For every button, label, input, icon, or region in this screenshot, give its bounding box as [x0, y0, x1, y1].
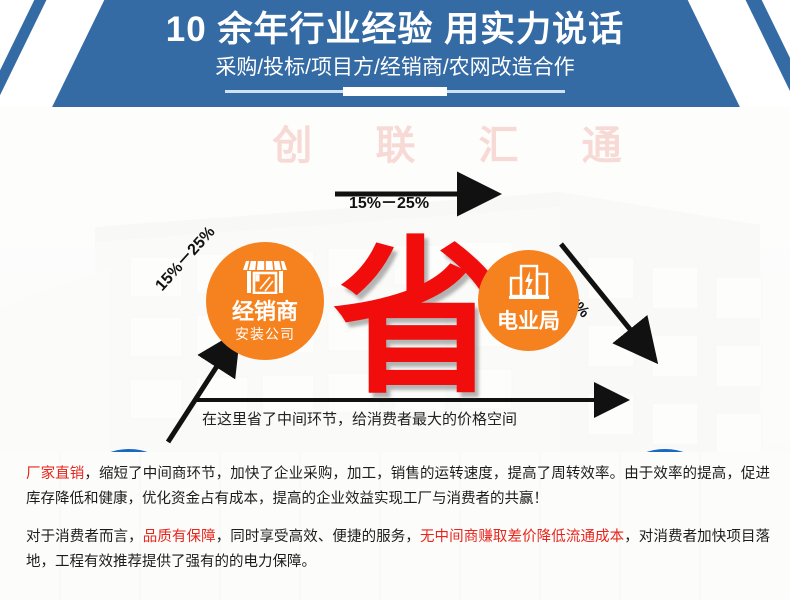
header-subtitle: 采购/投标/项目方/经销商/农网改造合作: [0, 55, 790, 81]
paragraph1-body: ，缩短了中间商环节，加快了企业采购，加工，销售的运转速度，提高了周转效率。由于效…: [26, 466, 770, 507]
paragraph-manufacturer-direct: 厂家直销，缩短了中间商环节，加快了企业采购，加工，销售的运转速度，提高了周转效率…: [26, 462, 770, 512]
node-dealer-label: 经销商: [206, 294, 324, 326]
header-banner: 10 余年行业经验 用实力说话 采购/投标/项目方/经销商/农网改造合作: [0, 0, 790, 107]
highlight-no-middleman: 无中间商赚取差价降低流通成本: [420, 529, 624, 545]
paragraph-consumer-benefit: 对于消费者而言，品质有保障，同时享受高效、便捷的服务，无中间商赚取差价降低流通成…: [26, 525, 770, 575]
flow-diagram: 创 联 汇 通 15%－25% 15%－25% 15%－25% 在这里省了中间环…: [0, 107, 790, 452]
node-dealer[interactable]: 经销商 安装公司: [206, 242, 324, 360]
node-dealer-sublabel: 安装公司: [206, 324, 324, 344]
node-power-bureau[interactable]: 电业局: [478, 250, 579, 351]
infographic-page: 10 余年行业经验 用实力说话 采购/投标/项目方/经销商/农网改造合作: [0, 0, 790, 600]
arrow-label-dealer-to-bureau: 15%－25%: [349, 189, 429, 213]
savings-character: 省: [333, 235, 501, 403]
header-content: 10 余年行业经验 用实力说话 采购/投标/项目方/经销商/农网改造合作: [0, 0, 790, 107]
highlight-direct-sales: 厂家直销: [26, 466, 84, 482]
header-title: 10 余年行业经验 用实力说话: [0, 8, 790, 52]
node-power-bureau-label: 电业局: [478, 305, 579, 335]
power-building-icon: [478, 264, 579, 307]
paragraph2-part2: ，同时享受高效、便捷的服务，: [216, 529, 420, 545]
description-section: 厂家直销，缩短了中间商环节，加快了企业采购，加工，销售的运转速度，提高了周转效率…: [0, 452, 790, 600]
paragraph2-part1: 对于消费者而言，: [26, 529, 143, 545]
highlight-quality-guarantee: 品质有保障: [143, 529, 216, 545]
shop-icon: [206, 258, 324, 299]
header-divider-center: [343, 87, 447, 96]
